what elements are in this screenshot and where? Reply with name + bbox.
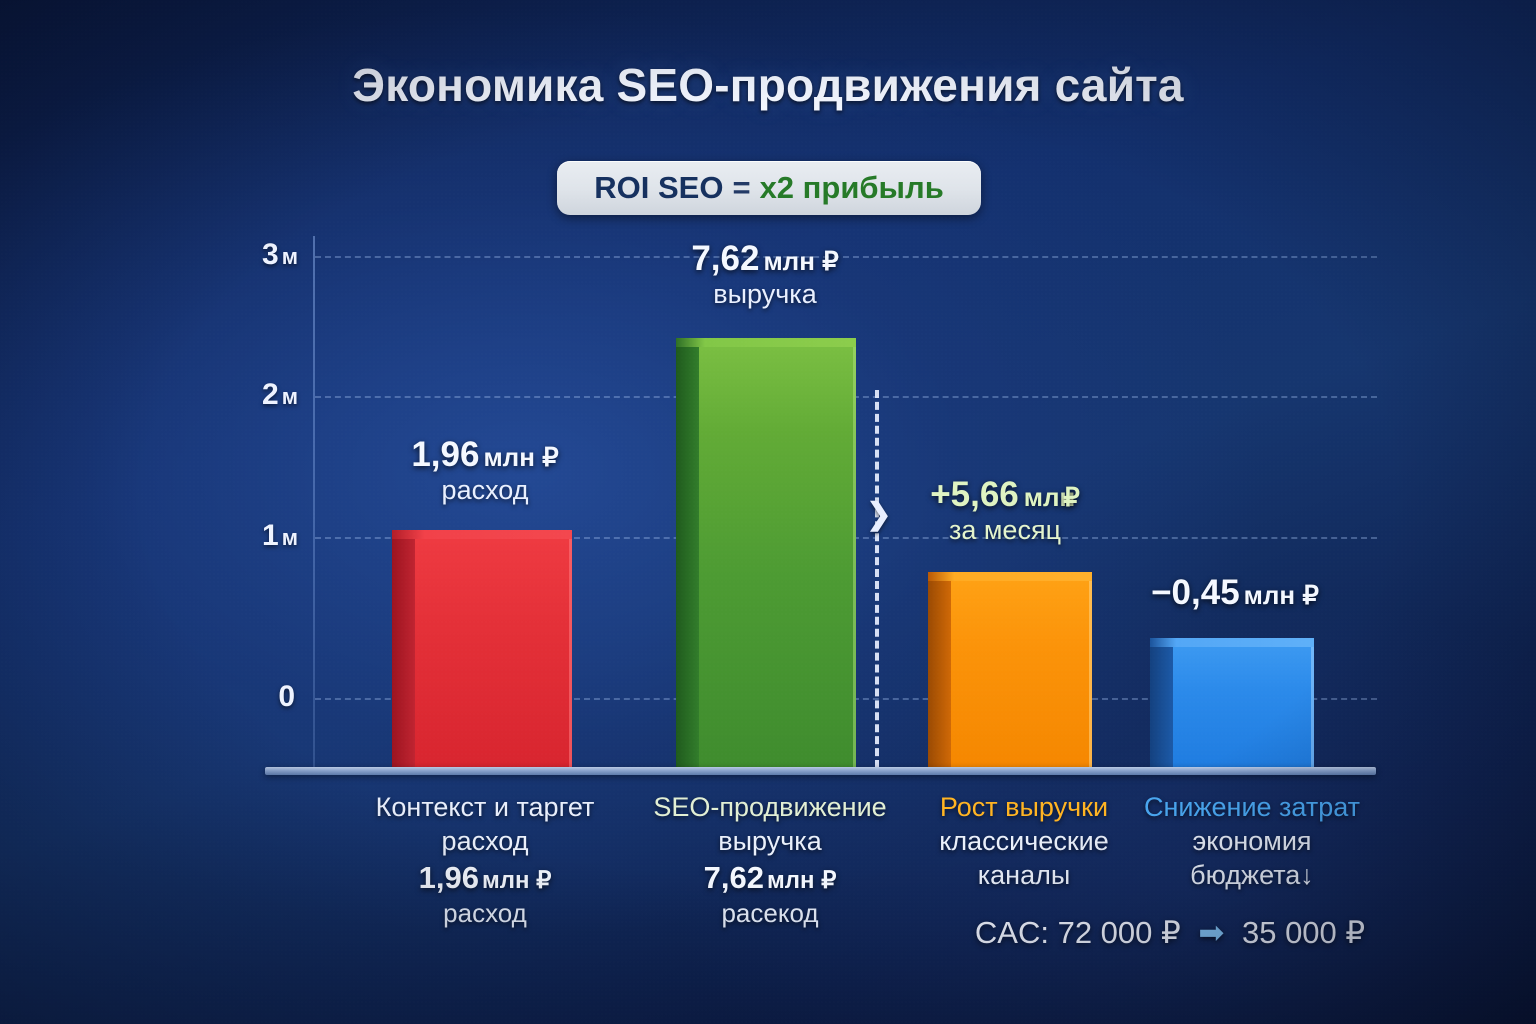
y-axis-line bbox=[313, 236, 315, 772]
bar-label-snizhenie: −0,45млн ₽ bbox=[1090, 572, 1380, 613]
bar-rost-vyruchki bbox=[928, 572, 1092, 770]
bar-label-unit: млн ₽ bbox=[1244, 580, 1319, 610]
bar-top-face bbox=[928, 572, 1092, 581]
y-tick-2m: 2м bbox=[228, 378, 298, 412]
bar-top-face bbox=[392, 530, 572, 539]
bar-label-amount: 7,62млн ₽ bbox=[620, 238, 910, 279]
infographic-canvas: Экономика SEO-продвижения сайта ROI SEO … bbox=[0, 0, 1536, 1024]
x-category-line4: расекод bbox=[620, 897, 920, 930]
bar-label-unit: млн ₽ bbox=[763, 246, 838, 276]
y-tick-0-value: 0 bbox=[278, 680, 295, 713]
x-category-line2: выручка bbox=[620, 824, 920, 858]
bar-label-amount: −0,45млн ₽ bbox=[1090, 572, 1380, 613]
x-category-money-unit: млн ₽ bbox=[767, 867, 836, 894]
cac-from-value: 72 000 ₽ bbox=[1058, 915, 1181, 950]
x-category-money-value: 7,62 bbox=[704, 860, 764, 895]
x-category-name: Рост выручки bbox=[900, 790, 1148, 824]
bar-label-seo: 7,62млн ₽ выручка bbox=[620, 238, 910, 311]
delta-value: +5,66 bbox=[930, 475, 1019, 514]
y-tick-1m-value: 1 bbox=[262, 519, 279, 552]
bar-label-sub: выручка bbox=[620, 279, 910, 311]
bar-front-face bbox=[1173, 638, 1314, 770]
delta-amount: +5,66млн₽ bbox=[880, 474, 1130, 515]
roi-badge: ROI SEO = x2 прибыль bbox=[557, 161, 981, 215]
x-category-kontekst-i-target: Контекст и таргет расход 1,96млн ₽ расхо… bbox=[340, 790, 630, 930]
bar-front-face bbox=[951, 572, 1092, 770]
y-tick-3m-value: 3 bbox=[262, 238, 279, 271]
bar-seo-prodvizhenie bbox=[676, 338, 856, 770]
bar-front-face bbox=[415, 530, 572, 770]
bar-label-value: 1,96 bbox=[411, 435, 479, 474]
x-category-line2: классические bbox=[900, 824, 1148, 858]
bar-label-value: −0,45 bbox=[1151, 573, 1240, 612]
x-category-money-value: 1,96 bbox=[419, 860, 479, 895]
bar-label-sub: расход bbox=[340, 475, 630, 507]
cac-summary: CAC: 72 000 ₽ ➡ 35 000 ₽ bbox=[900, 915, 1440, 951]
bar-side-face bbox=[392, 530, 415, 770]
x-category-line2: экономия bbox=[1128, 824, 1376, 858]
x-category-seo-prodvizhenie: SEO-продвижение выручка 7,62млн ₽ расеко… bbox=[620, 790, 920, 930]
roi-badge-equals: = bbox=[732, 170, 750, 206]
delta-currency: ₽ bbox=[1063, 482, 1080, 512]
x-axis-baseline bbox=[265, 767, 1376, 775]
x-category-money-unit: млн ₽ bbox=[482, 867, 551, 894]
x-category-line2: расход bbox=[340, 824, 630, 858]
bar-side-face bbox=[928, 572, 951, 770]
bar-side-face bbox=[676, 338, 699, 770]
x-category-name: Снижение затрат bbox=[1128, 790, 1376, 824]
cac-prefix: CAC: bbox=[975, 915, 1049, 950]
y-tick-1m-unit: м bbox=[282, 525, 298, 550]
page-title: Экономика SEO-продвижения сайта bbox=[0, 58, 1536, 112]
bar-label-kontekst: 1,96млн ₽ расход bbox=[340, 434, 630, 507]
delta-divider-line bbox=[875, 390, 879, 768]
y-tick-3m-unit: м bbox=[282, 244, 298, 269]
y-tick-1m: 1м bbox=[228, 519, 298, 553]
bar-snizhenie-zatrat bbox=[1150, 638, 1314, 770]
roi-badge-label: ROI SEO bbox=[594, 170, 723, 206]
y-tick-3m: 3м bbox=[228, 238, 298, 272]
y-tick-2m-unit: м bbox=[282, 384, 298, 409]
y-tick-0: 0 bbox=[228, 680, 298, 714]
cac-to-value: 35 000 ₽ bbox=[1242, 915, 1365, 950]
x-category-line3: бюджета↓ bbox=[1128, 858, 1376, 892]
bar-label-amount: 1,96млн ₽ bbox=[340, 434, 630, 475]
delta-sub: за месяц bbox=[880, 515, 1130, 547]
x-category-money: 1,96млн ₽ bbox=[340, 858, 630, 897]
x-category-line4: расход bbox=[340, 897, 630, 930]
x-category-name: SEO-продвижение bbox=[620, 790, 920, 824]
delta-annotation: +5,66млн₽ за месяц bbox=[880, 474, 1130, 547]
bar-top-face bbox=[1150, 638, 1314, 647]
bar-top-face bbox=[676, 338, 856, 347]
x-category-snizhenie-zatrat: Снижение затрат экономия бюджета↓ bbox=[1128, 790, 1376, 892]
x-category-name: Контекст и таргет bbox=[340, 790, 630, 824]
y-tick-2m-value: 2 bbox=[262, 378, 279, 411]
x-category-money: 7,62млн ₽ bbox=[620, 858, 920, 897]
x-category-rost-vyruchki: Рост выручки классические каналы bbox=[900, 790, 1148, 892]
arrow-right-icon: ➡ bbox=[1198, 915, 1224, 950]
bar-side-face bbox=[1150, 638, 1173, 770]
bar-label-value: 7,62 bbox=[691, 239, 759, 278]
x-category-line3: каналы bbox=[900, 858, 1148, 892]
bar-label-unit: млн ₽ bbox=[483, 442, 558, 472]
roi-badge-value: x2 прибыль bbox=[760, 170, 944, 206]
bar-kontekst-i-target bbox=[392, 530, 572, 770]
bar-front-face bbox=[699, 338, 856, 770]
